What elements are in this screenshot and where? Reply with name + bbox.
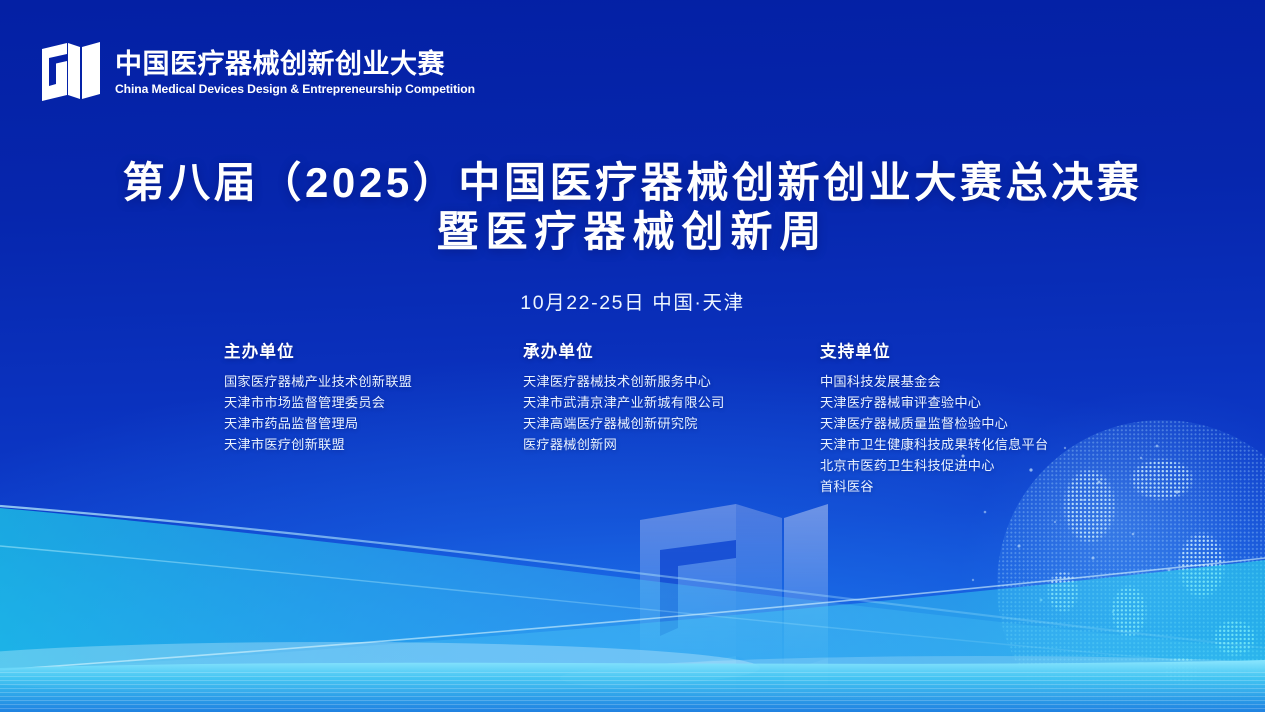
org-item: 首科医谷 — [820, 476, 1048, 497]
org-item: 天津市卫生健康科技成果转化信息平台 — [820, 434, 1048, 455]
org-item: 天津高端医疗器械创新研究院 — [523, 413, 725, 434]
org-item: 国家医疗器械产业技术创新联盟 — [224, 371, 412, 392]
org-column-organizer: 承办单位 天津医疗器械技术创新服务中心 天津市武清京津产业新城有限公司 天津高端… — [523, 338, 725, 455]
org-column-heading: 承办单位 — [523, 338, 725, 362]
poster-title-line1: 第八届（2025）中国医疗器械创新创业大赛总决赛 — [0, 158, 1265, 207]
organizations-section: 主办单位 国家医疗器械产业技术创新联盟 天津市市场监督管理委员会 天津市药品监督… — [0, 338, 1265, 508]
org-item: 医疗器械创新网 — [523, 434, 725, 455]
poster-title: 第八届（2025）中国医疗器械创新创业大赛总决赛 暨医疗器械创新周 — [0, 158, 1265, 256]
brand-name-cn: 中国医疗器械创新创业大赛 — [115, 50, 482, 78]
org-item: 北京市医药卫生科技促进中心 — [820, 455, 1048, 476]
org-item: 天津医疗器械技术创新服务中心 — [523, 371, 725, 392]
org-item: 天津市武清京津产业新城有限公司 — [523, 392, 725, 413]
org-item: 天津市市场监督管理委员会 — [224, 392, 412, 413]
poster-subtitle: 10月22-25日 中国·天津 — [0, 286, 1265, 315]
brand-name-en: China Medical Devices Design & Entrepren… — [115, 82, 475, 96]
poster-canvas: 中国医疗器械创新创业大赛 China Medical Devices Desig… — [0, 0, 1265, 712]
org-item: 天津市医疗创新联盟 — [224, 434, 412, 455]
brand-logo: 中国医疗器械创新创业大赛 China Medical Devices Desig… — [40, 40, 482, 106]
org-item: 天津市药品监督管理局 — [224, 413, 412, 434]
poster-title-line2: 暨医疗器械创新周 — [0, 207, 1265, 256]
org-column-supporter: 支持单位 中国科技发展基金会 天津医疗器械审评查验中心 天津医疗器械质量监督检验… — [820, 338, 1048, 497]
org-item: 天津医疗器械审评查验中心 — [820, 392, 1048, 413]
org-column-host: 主办单位 国家医疗器械产业技术创新联盟 天津市市场监督管理委员会 天津市药品监督… — [224, 338, 412, 455]
org-column-heading: 支持单位 — [820, 338, 1048, 362]
org-item: 天津医疗器械质量监督检验中心 — [820, 413, 1048, 434]
wave-decoration-icon — [0, 472, 1265, 712]
open-book-door-icon — [40, 40, 102, 106]
org-column-heading: 主办单位 — [224, 338, 412, 362]
org-item: 中国科技发展基金会 — [820, 371, 1048, 392]
